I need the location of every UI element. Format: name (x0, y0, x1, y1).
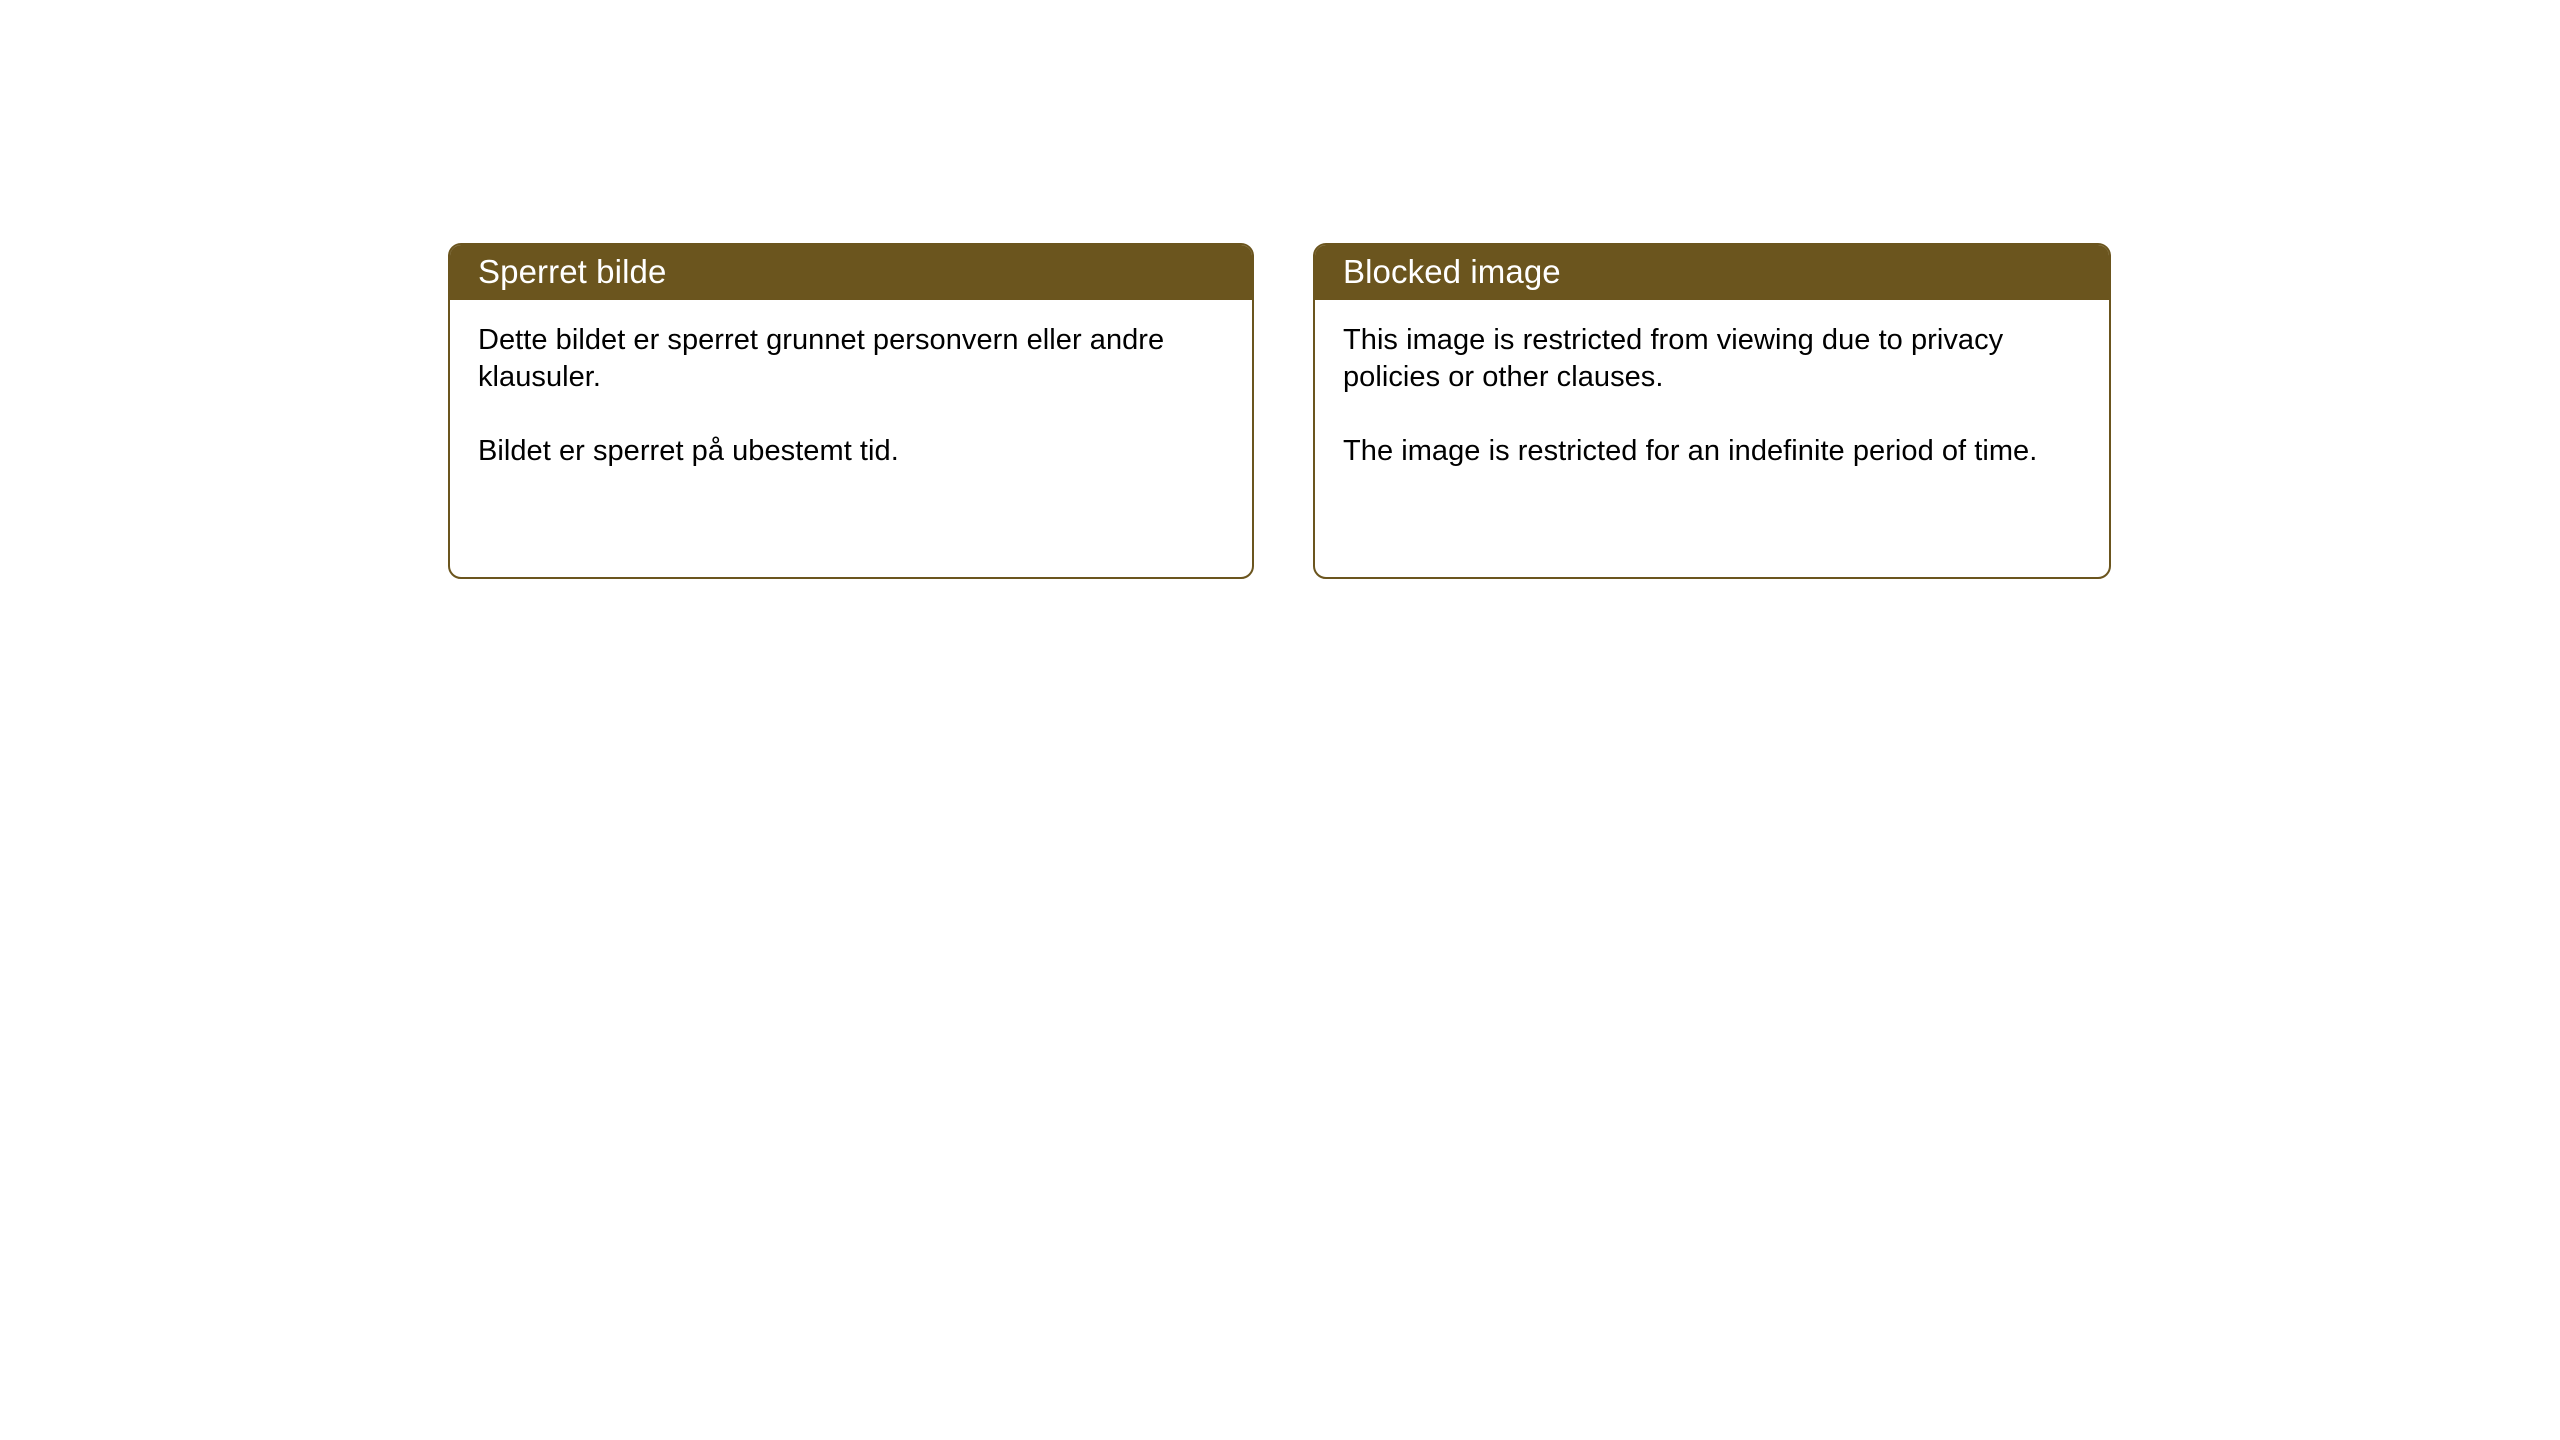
card-paragraph-norwegian-1: Dette bildet er sperret grunnet personve… (478, 322, 1226, 396)
blocked-image-notice-card-norwegian: Sperret bilde Dette bildet er sperret gr… (448, 243, 1254, 579)
page-canvas: Sperret bilde Dette bildet er sperret gr… (0, 0, 2560, 1440)
card-body-english: This image is restricted from viewing du… (1315, 300, 2109, 470)
card-paragraph-english-1: This image is restricted from viewing du… (1343, 322, 2083, 396)
card-paragraph-english-2: The image is restricted for an indefinit… (1343, 433, 2083, 470)
card-title-norwegian: Sperret bilde (478, 255, 666, 288)
card-body-norwegian: Dette bildet er sperret grunnet personve… (450, 300, 1252, 470)
paragraph-spacer-english (1343, 396, 2083, 433)
blocked-image-notice-card-english: Blocked image This image is restricted f… (1313, 243, 2111, 579)
card-header-norwegian: Sperret bilde (448, 243, 1254, 300)
card-paragraph-norwegian-2: Bildet er sperret på ubestemt tid. (478, 433, 1226, 470)
card-title-english: Blocked image (1343, 255, 1561, 288)
paragraph-spacer-norwegian (478, 396, 1226, 433)
card-header-english: Blocked image (1313, 243, 2111, 300)
